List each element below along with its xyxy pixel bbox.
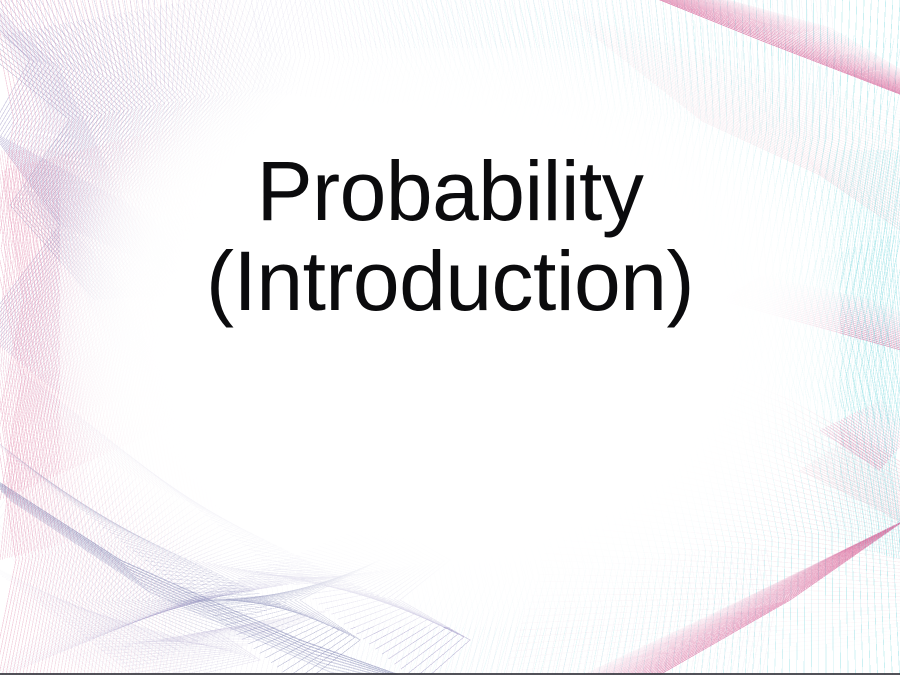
slide-canvas: Probability (Introduction) (0, 0, 900, 675)
title-block: Probability (Introduction) (0, 0, 900, 675)
slide-title-line-1: Probability (257, 146, 644, 236)
slide-title-line-2: (Introduction) (206, 236, 694, 326)
